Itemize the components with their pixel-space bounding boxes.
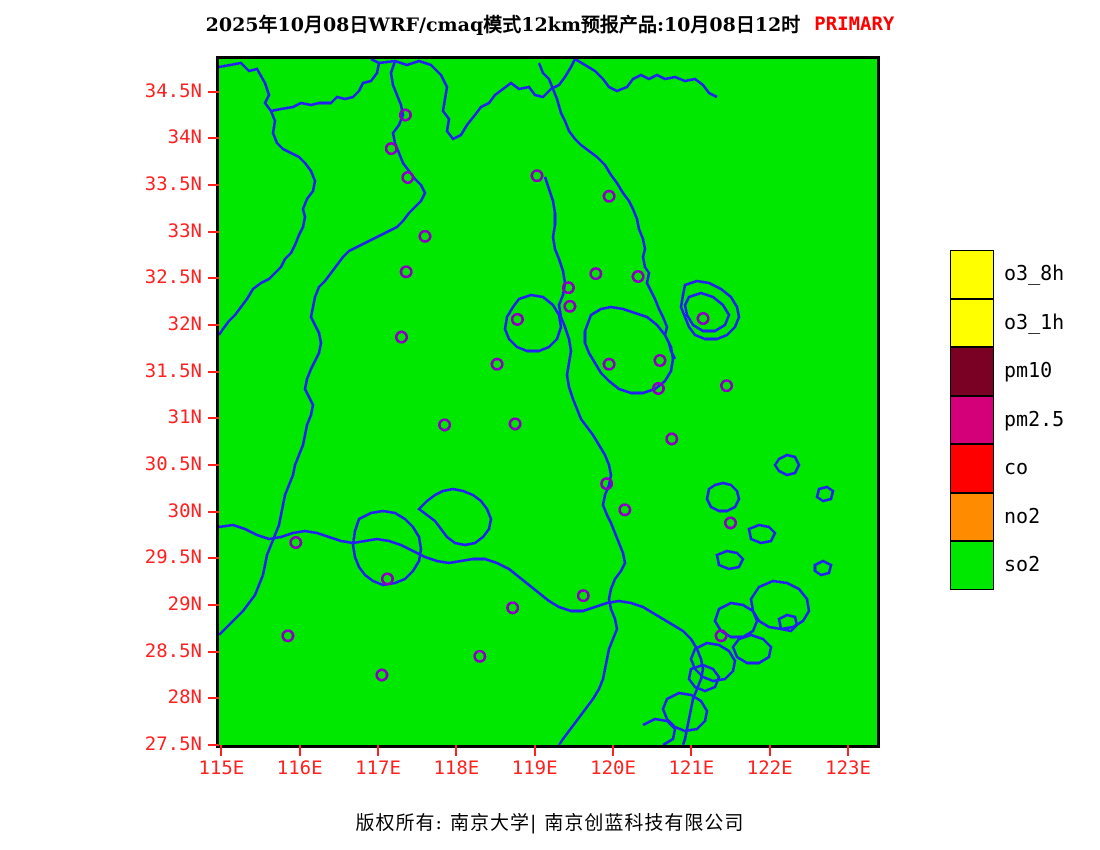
- page-title-primary-tag: PRIMARY: [800, 13, 894, 35]
- y-axis-label: 33N: [60, 222, 202, 241]
- legend-color-swatch: [950, 493, 994, 542]
- legend-item-label: o3_8h: [1004, 263, 1064, 283]
- x-axis-tick: [847, 745, 849, 756]
- x-axis-tick: [690, 745, 692, 756]
- x-axis-label: 121E: [646, 759, 736, 778]
- legend-item-label: pm10: [1004, 360, 1052, 380]
- y-axis-tick: [208, 371, 219, 373]
- y-axis-label: 29N: [60, 595, 202, 614]
- x-axis-label: 120E: [568, 759, 658, 778]
- y-axis-tick: [208, 184, 219, 186]
- x-axis-tick: [769, 745, 771, 756]
- x-axis-label: 119E: [490, 759, 580, 778]
- legend-item-label: pm2.5: [1004, 409, 1064, 429]
- x-axis-label: 115E: [176, 759, 266, 778]
- x-axis-tick: [220, 745, 222, 756]
- forecast-map-page: 2025年10月08日WRF/cmaq模式12km预报产品:10月08日12时P…: [0, 0, 1100, 850]
- map-plot-area[interactable]: [216, 56, 880, 748]
- y-axis-label: 29.5N: [60, 548, 202, 567]
- legend-color-swatch: [950, 444, 994, 493]
- y-axis-tick: [208, 417, 219, 419]
- x-axis-tick: [377, 745, 379, 756]
- legend-color-swatch: [950, 299, 994, 348]
- copyright-text: 版权所有: 南京大学| 南京创蓝科技有限公司: [356, 812, 745, 834]
- y-axis-tick: [208, 697, 219, 699]
- page-title: 2025年10月08日WRF/cmaq模式12km预报产品:10月08日12时P…: [0, 10, 1100, 40]
- y-axis-tick: [208, 604, 219, 606]
- y-axis-label: 30.5N: [60, 455, 202, 474]
- y-axis-label: 31.5N: [60, 362, 202, 381]
- y-axis-tick: [208, 464, 219, 466]
- y-axis-tick: [208, 137, 219, 139]
- y-axis-tick: [208, 91, 219, 93]
- legend-item-label: o3_1h: [1004, 312, 1064, 332]
- y-axis-tick: [208, 277, 219, 279]
- x-axis-label: 116E: [255, 759, 345, 778]
- legend-color-swatch: [950, 541, 994, 590]
- y-axis-label: 32N: [60, 315, 202, 334]
- x-axis-tick: [455, 745, 457, 756]
- legend-color-swatch: [950, 250, 994, 299]
- legend-item-label: no2: [1004, 506, 1040, 526]
- y-axis-tick: [208, 651, 219, 653]
- y-axis-tick: [208, 511, 219, 513]
- x-axis-label: 123E: [803, 759, 893, 778]
- y-axis-label: 27.5N: [60, 735, 202, 754]
- y-axis-label: 30N: [60, 502, 202, 521]
- y-axis-label: 34N: [60, 128, 202, 147]
- x-axis-tick: [612, 745, 614, 756]
- y-axis-label: 34.5N: [60, 82, 202, 101]
- x-axis-tick: [534, 745, 536, 756]
- legend-item-label: co: [1004, 457, 1028, 477]
- y-axis-tick: [208, 557, 219, 559]
- y-axis-tick: [208, 324, 219, 326]
- y-axis-tick: [208, 231, 219, 233]
- y-axis-label: 33.5N: [60, 175, 202, 194]
- x-axis-tick: [299, 745, 301, 756]
- map-svg: [219, 59, 877, 745]
- page-title-main: 2025年10月08日WRF/cmaq模式12km预报产品:10月08日12时: [206, 14, 801, 36]
- y-axis-label: 31N: [60, 408, 202, 427]
- legend-color-swatch: [950, 347, 994, 396]
- x-axis-label: 118E: [411, 759, 501, 778]
- legend-color-swatch: [950, 396, 994, 445]
- legend-item-label: so2: [1004, 554, 1040, 574]
- copyright-footer: 版权所有: 南京大学| 南京创蓝科技有限公司: [0, 808, 1100, 835]
- y-axis-label: 28N: [60, 688, 202, 707]
- y-axis-label: 28.5N: [60, 642, 202, 661]
- x-axis-label: 117E: [333, 759, 423, 778]
- y-axis-label: 32.5N: [60, 268, 202, 287]
- x-axis-label: 122E: [725, 759, 815, 778]
- y-axis-tick: [208, 744, 219, 746]
